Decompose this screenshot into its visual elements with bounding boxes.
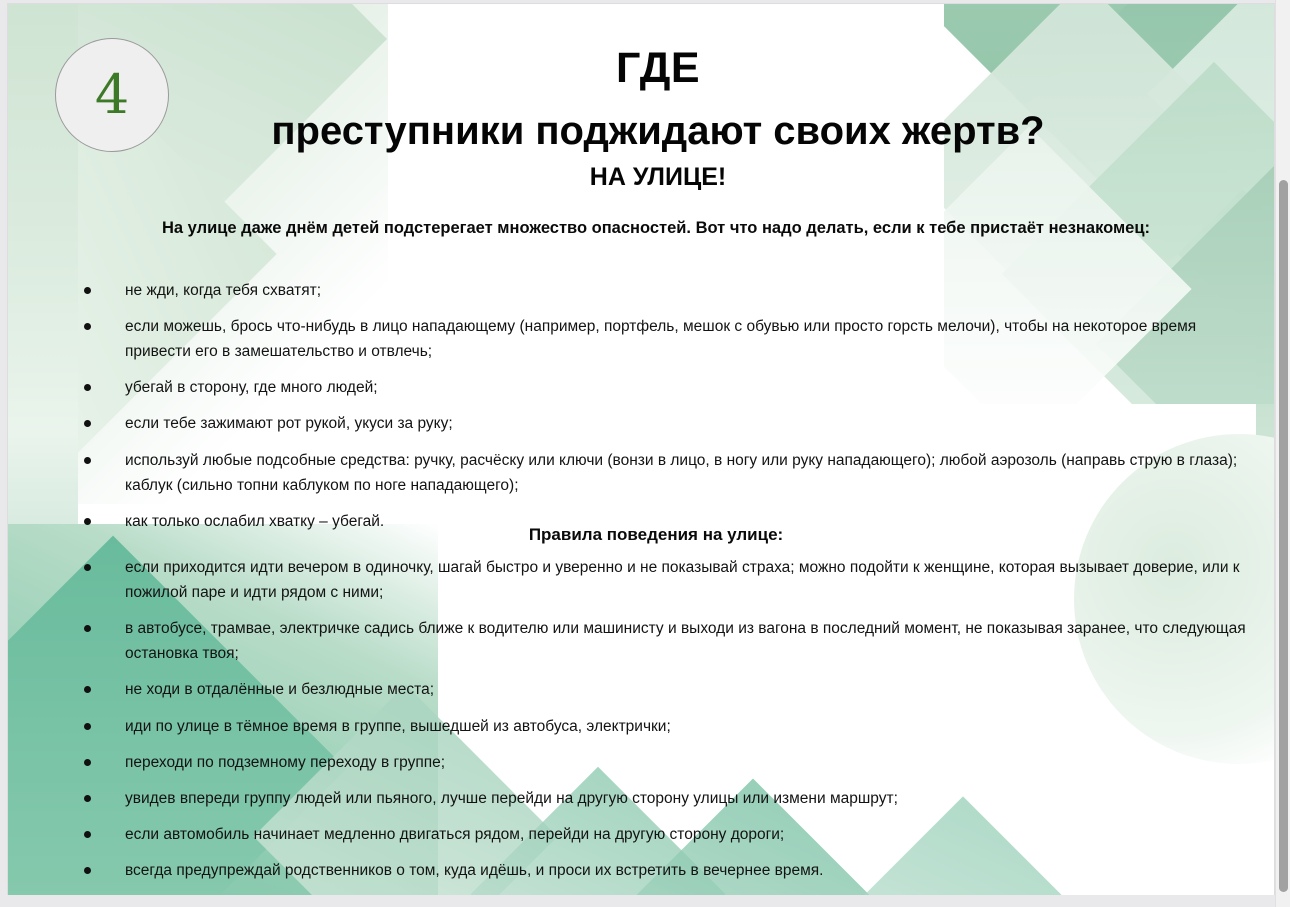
page-title-line-2: преступники поджидают своих жертв? [183, 109, 1133, 153]
list-item: не ходи в отдалённые и безлюдные места; [70, 677, 1250, 702]
list-item: убегай в сторону, где много людей; [70, 375, 1250, 400]
list-item: используй любые подсобные средства: ручк… [70, 448, 1250, 498]
intro-paragraph: На улице даже днём детей подстерегает мн… [70, 214, 1242, 242]
section-heading: Правила поведения на улице: [70, 525, 1242, 545]
viewer-bottom-edge [0, 895, 1290, 907]
slide-title-block: ГДЕ преступники поджидают своих жертв? Н… [183, 46, 1133, 192]
list-item: если приходится идти вечером в одиночку,… [70, 555, 1250, 605]
slide-number-badge-value: 4 [95, 68, 129, 122]
list-item: не жди, когда тебя схватят; [70, 278, 1250, 303]
list-item: если можешь, брось что-нибудь в лицо нап… [70, 314, 1250, 364]
bullet-list-second: если приходится идти вечером в одиночку,… [70, 555, 1250, 894]
slide-number-badge: 4 [55, 38, 169, 152]
vertical-scrollbar[interactable] [1275, 0, 1290, 907]
list-item: если автомобиль начинает медленно двигат… [70, 822, 1250, 847]
list-item: если тебе зажимают рот рукой, укуси за р… [70, 411, 1250, 436]
list-item: в автобусе, трамвае, электричке садись б… [70, 616, 1250, 666]
slide-canvas: 4 ГДЕ преступники поджидают своих жертв?… [8, 4, 1274, 895]
list-item: всегда предупреждай родственников о том,… [70, 858, 1250, 883]
slide-content: 4 ГДЕ преступники поджидают своих жертв?… [8, 4, 1274, 895]
list-item: переходи по подземному переходу в группе… [70, 750, 1250, 775]
list-item: иди по улице в тёмное время в группе, вы… [70, 714, 1250, 739]
page-title-line-1: ГДЕ [183, 46, 1133, 91]
list-item: увидев впереди группу людей или пьяного,… [70, 786, 1250, 811]
bullet-list-first: не жди, когда тебя схватят; если можешь,… [70, 278, 1250, 545]
scrollbar-thumb[interactable] [1279, 180, 1288, 892]
page-title-line-3: НА УЛИЦЕ! [183, 164, 1133, 192]
document-viewer: 4 ГДЕ преступники поджидают своих жертв?… [0, 0, 1290, 907]
